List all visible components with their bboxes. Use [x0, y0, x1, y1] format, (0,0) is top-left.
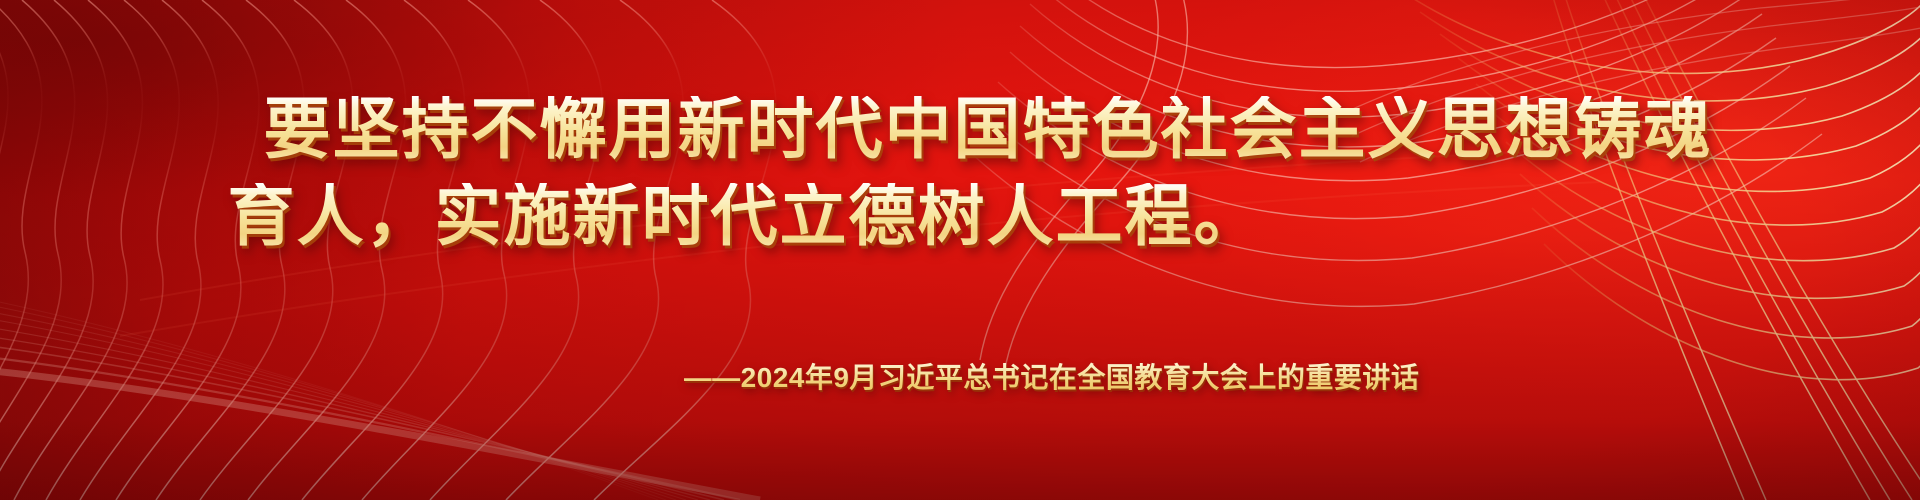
headline-block: 要坚持不懈用新时代中国特色社会主义思想铸魂 育人，实施新时代立德树人工程。: [0, 96, 1920, 250]
headline-line-2: 育人，实施新时代立德树人工程。: [0, 183, 1920, 250]
attribution-text: ——2024年9月习近平总书记在全国教育大会上的重要讲话: [684, 356, 1420, 396]
slogan-banner: 要坚持不懈用新时代中国特色社会主义思想铸魂 育人，实施新时代立德树人工程。 ——…: [0, 0, 1920, 500]
attribution-block: ——2024年9月习近平总书记在全国教育大会上的重要讲话: [0, 356, 1920, 396]
banner-content: 要坚持不懈用新时代中国特色社会主义思想铸魂 育人，实施新时代立德树人工程。 ——…: [0, 0, 1920, 500]
headline-line-1: 要坚持不懈用新时代中国特色社会主义思想铸魂: [0, 96, 1920, 163]
